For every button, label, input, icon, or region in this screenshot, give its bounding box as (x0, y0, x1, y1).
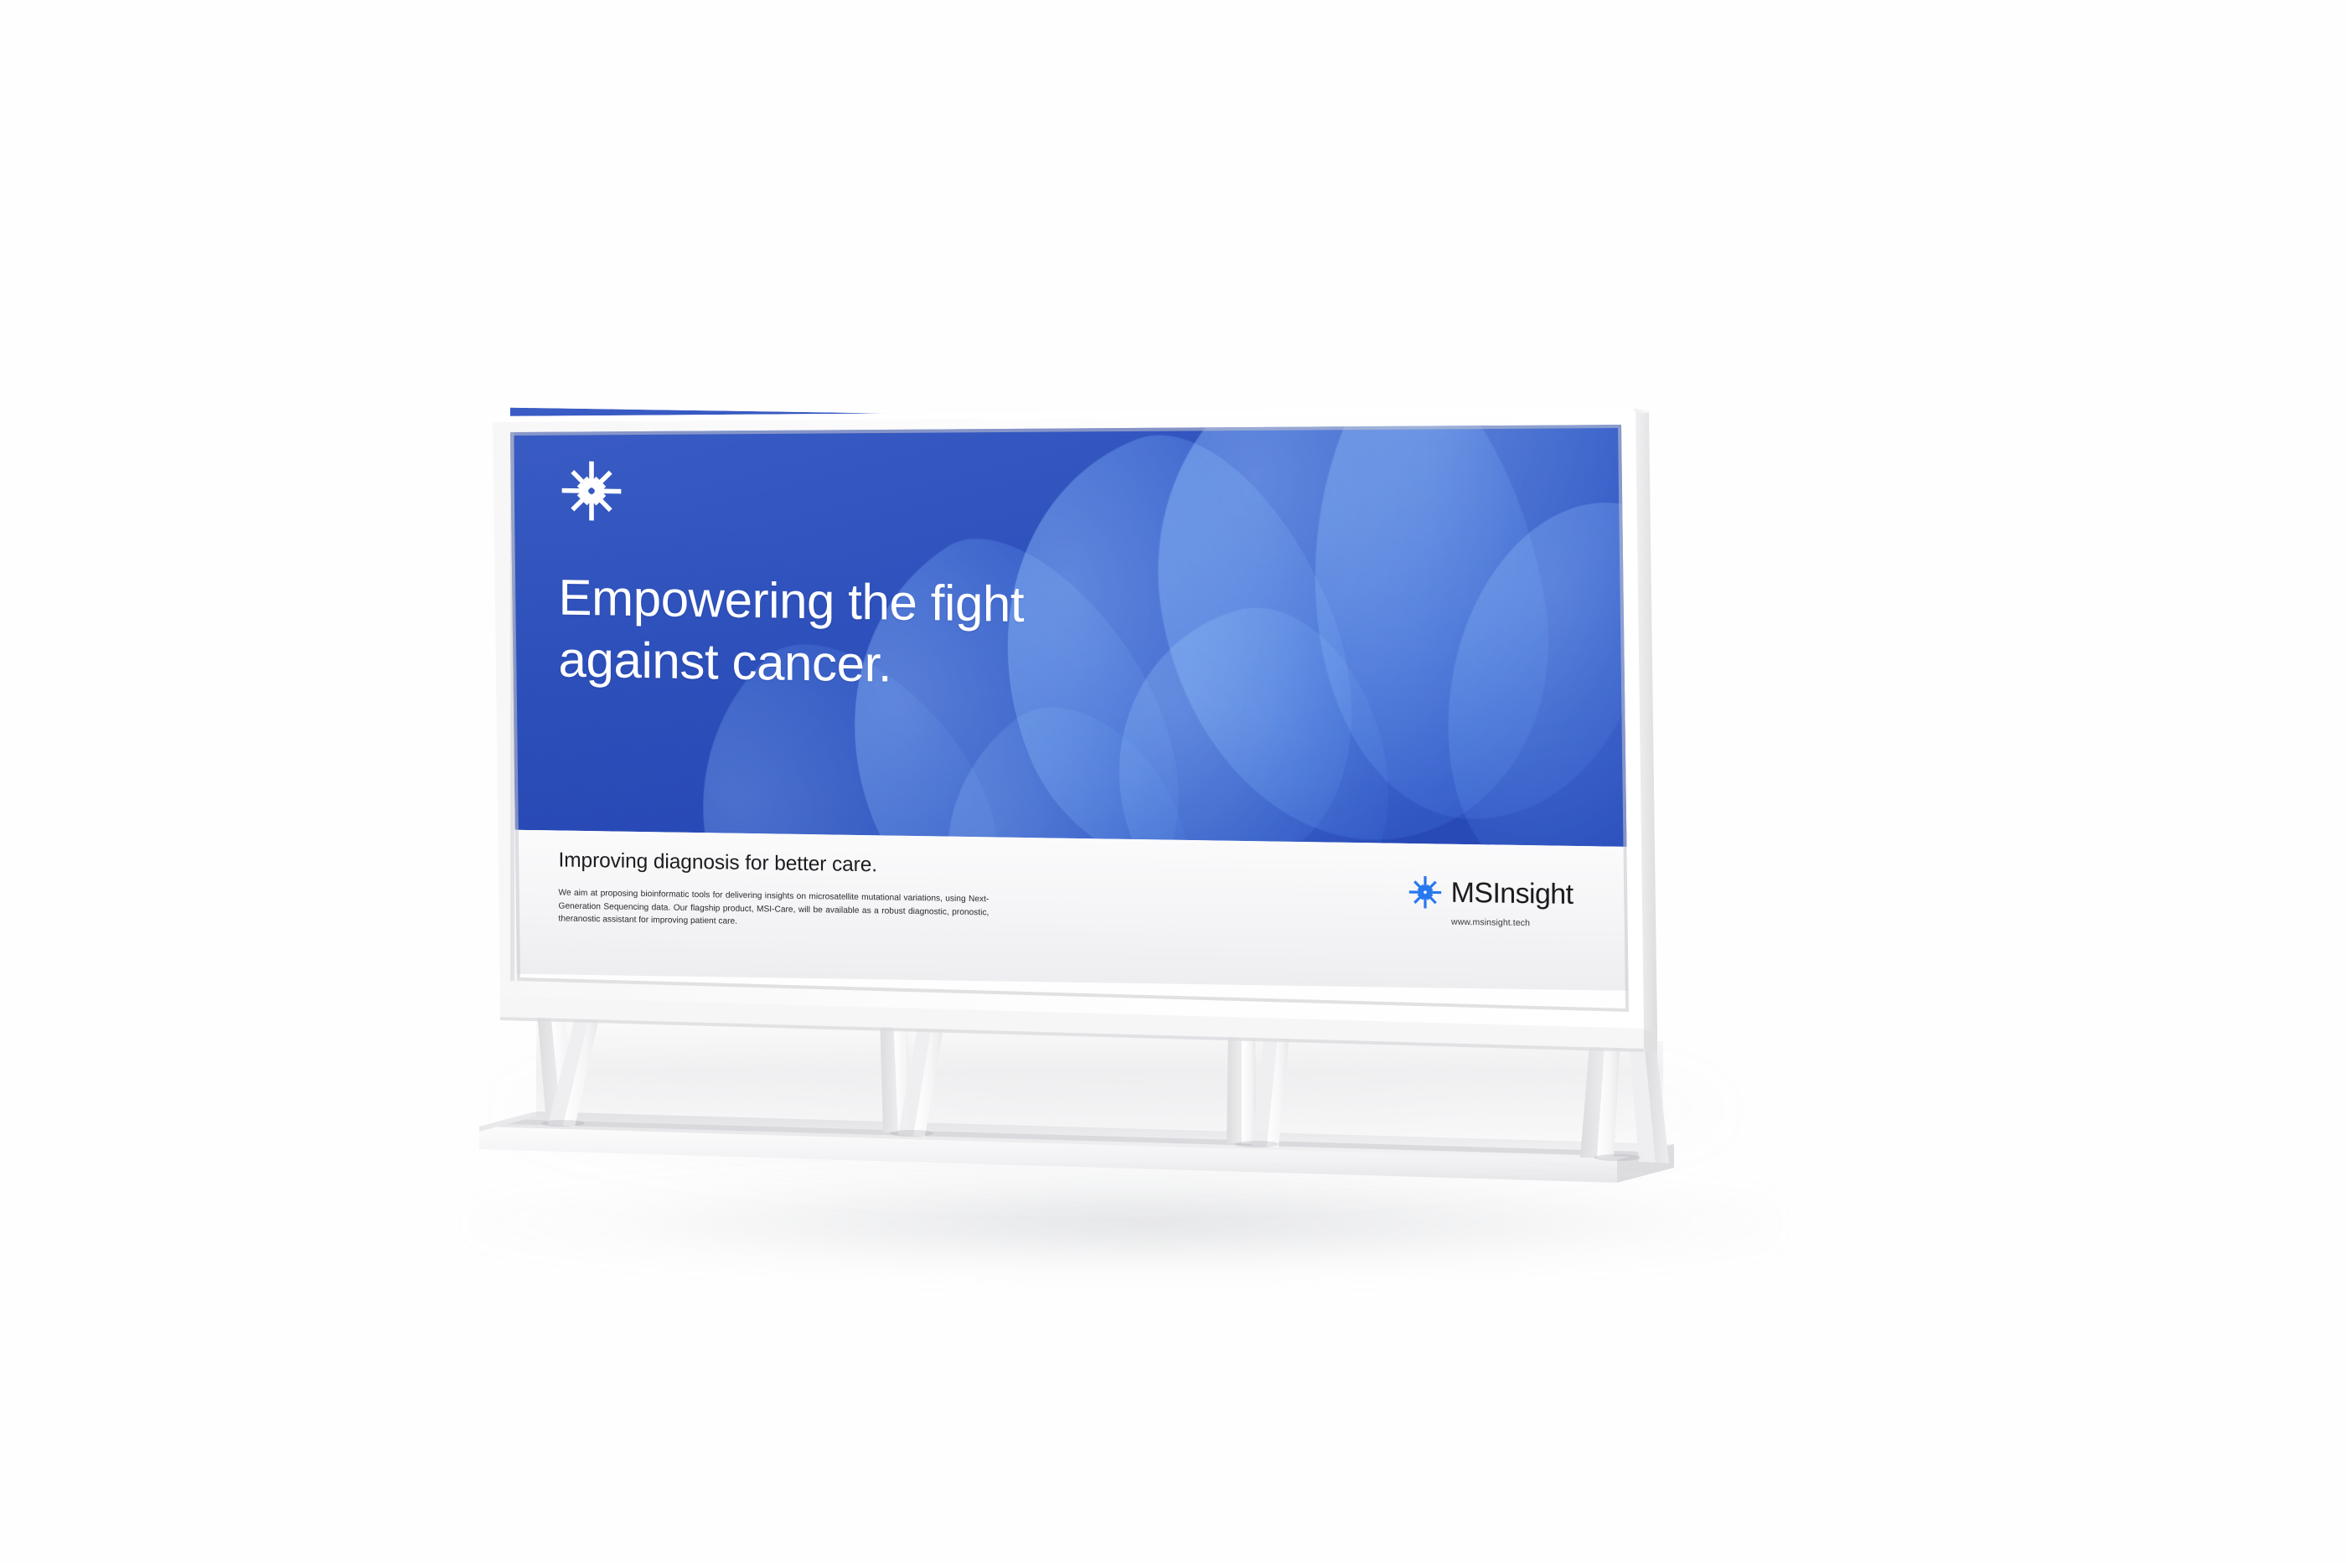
support-bay-backdrop (536, 1005, 1663, 1143)
white-info-section: Improving diagnosis for better care. We … (510, 829, 1631, 991)
blue-hero-section: Empowering the fight against cancer. (510, 408, 1631, 847)
billboard-panel: Empowering the fight against cancer. Imp… (0, 0, 2346, 1564)
support-leg-3 (1227, 1024, 1290, 1148)
brand-url: www.msinsight.tech (1451, 916, 1530, 927)
ground-shadow (469, 1173, 1776, 1298)
structure-soft-shadow (503, 1014, 1726, 1206)
brand-lockup: MSInsight www.msinsight.tech (1408, 874, 1573, 928)
billboard-body-copy: We aim at proposing bioinformatic tools … (559, 886, 990, 932)
msinsight-starburst-icon (561, 460, 623, 523)
support-leg-4 (1580, 1035, 1669, 1163)
brand-row: MSInsight (1408, 874, 1573, 910)
billboard-tagline: Improving diagnosis for better care. (559, 849, 877, 878)
panel-bottom-beam (500, 997, 1644, 1049)
billboard-artwork: Empowering the fight against cancer. Imp… (510, 408, 1631, 991)
leg-contact-shadows (541, 1120, 1641, 1161)
support-leg-1 (536, 1002, 602, 1127)
billboard-scene: Empowering the fight against cancer. Imp… (0, 0, 2346, 1564)
billboard-headline: Empowering the fight against cancer. (559, 567, 1025, 697)
msinsight-starburst-icon (1408, 874, 1442, 909)
base-rail (479, 1112, 1674, 1183)
brand-name: MSInsight (1451, 878, 1573, 908)
support-leg-2 (880, 1013, 945, 1137)
frame-right-side-face (1635, 408, 1657, 1034)
